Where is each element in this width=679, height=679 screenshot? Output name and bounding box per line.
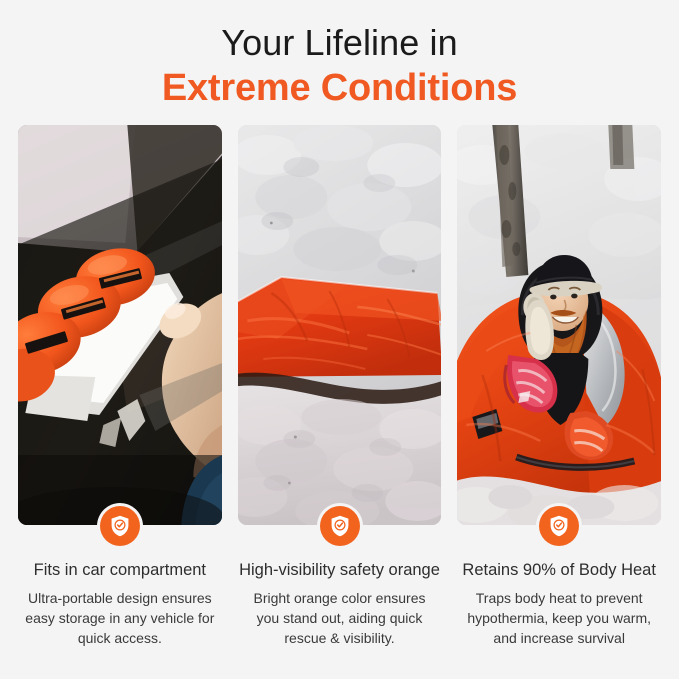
feature-column-1: Fits in car compartment Ultra-portable d… [18,125,222,649]
feature-columns: Fits in car compartment Ultra-portable d… [0,111,679,649]
photo-car-compartment [18,125,222,525]
feature-badge-2 [317,503,363,549]
photo-orange-shelter-snow-illustration [238,125,442,525]
shield-check-glyph [547,514,571,538]
feature-body-2: Bright orange color ensures you stand ou… [238,589,442,649]
photo-orange-shelter-snow [238,125,442,525]
photo-car-compartment-illustration [18,125,222,525]
feature-caption-3: Retains 90% of Body Heat Traps body heat… [457,560,661,649]
shield-check-icon [100,506,140,546]
feature-title-2: High-visibility safety orange [238,560,442,581]
feature-badge-1 [97,503,143,549]
promo-infographic: Your Lifeline in Extreme Conditions [0,0,679,679]
feature-caption-1: Fits in car compartment Ultra-portable d… [18,560,222,649]
shield-check-icon [539,506,579,546]
feature-title-3: Retains 90% of Body Heat [457,560,661,581]
feature-badge-3 [536,503,582,549]
headline-line-1: Your Lifeline in [0,22,679,64]
headline-line-2: Extreme Conditions [0,66,679,111]
feature-body-1: Ultra-portable design ensures easy stora… [18,589,222,649]
feature-column-3: Retains 90% of Body Heat Traps body heat… [457,125,661,649]
photo-man-in-bivvy [457,125,661,525]
page-title: Your Lifeline in Extreme Conditions [0,0,679,111]
feature-caption-2: High-visibility safety orange Bright ora… [238,560,442,649]
feature-title-1: Fits in car compartment [18,560,222,581]
photo-man-in-bivvy-illustration [457,125,661,525]
feature-body-3: Traps body heat to prevent hypothermia, … [457,589,661,649]
feature-column-2: High-visibility safety orange Bright ora… [238,125,442,649]
shield-check-icon [320,506,360,546]
shield-check-glyph [328,514,352,538]
shield-check-glyph [108,514,132,538]
